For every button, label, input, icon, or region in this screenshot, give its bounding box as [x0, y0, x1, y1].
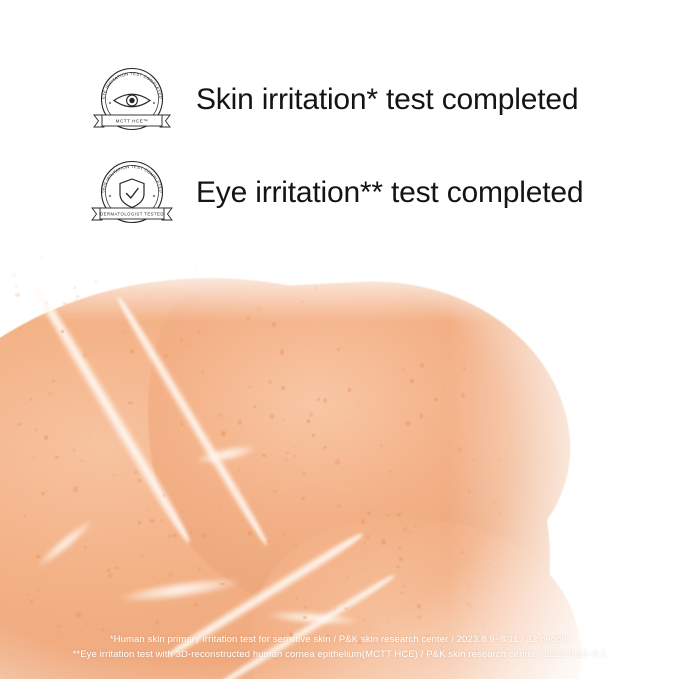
badge-ribbon-text: MCTT HCE™ [116, 119, 149, 124]
gel-speckle [39, 255, 43, 260]
claim-row-skin-irritation: EYE IRRITATION TEST COMPLETED MCTT HCE™ [84, 57, 578, 141]
gel-speckle [302, 254, 306, 258]
gel-speckle [76, 295, 79, 297]
badge-ribbon-text: DERMATOLOGIST TESTED [100, 212, 164, 217]
gel-speckle [12, 273, 16, 278]
gel-speckle [15, 293, 20, 297]
footnote-eye-irritation: **Eye irritation test with 3D-reconstruc… [0, 647, 679, 663]
gel-speckle [74, 286, 76, 289]
badge-ribbon: DERMATOLOGIST TESTED [92, 208, 172, 220]
badge-dot [109, 195, 111, 197]
gel-speckle [195, 267, 197, 269]
page-root: EYE IRRITATION TEST COMPLETED MCTT HCE™ [0, 0, 679, 679]
footnote-skin-irritation: *Human skin primary irritation test for … [0, 632, 679, 648]
dermatologist-tested-badge: SKIN IRRITATION TEST COMPLETED DERMATOLO… [84, 150, 180, 234]
gel-speckle [227, 255, 230, 257]
shield-check-icon [120, 179, 144, 208]
claim-row-eye-irritation: SKIN IRRITATION TEST COMPLETED DERMATOLO… [84, 150, 583, 234]
badge-ribbon: MCTT HCE™ [94, 115, 170, 127]
footnotes: *Human skin primary irritation test for … [0, 632, 679, 663]
badge-dot [153, 195, 155, 197]
eye-irritation-badge: EYE IRRITATION TEST COMPLETED MCTT HCE™ [84, 57, 180, 141]
claim-label-skin-irritation: Skin irritation* test completed [196, 83, 578, 116]
claim-label-eye-irritation: Eye irritation** test completed [196, 176, 583, 209]
eye-icon [114, 94, 150, 107]
badge-dot [109, 102, 111, 104]
gel-speckle [15, 285, 18, 287]
gel-product-photo [0, 252, 679, 679]
gel-speckle [95, 281, 97, 282]
badge-dot [153, 102, 155, 104]
